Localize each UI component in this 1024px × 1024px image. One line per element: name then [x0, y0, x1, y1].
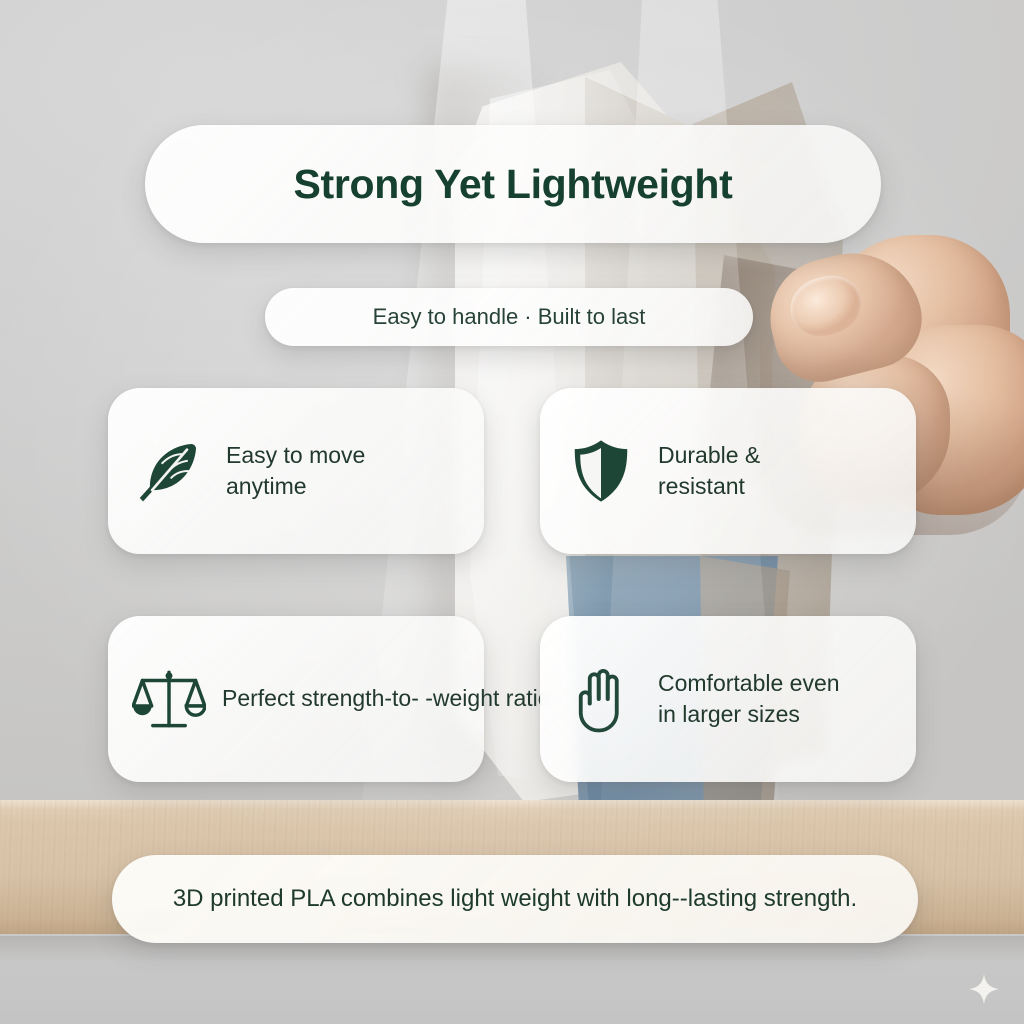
feature-label: Perfect strength-to- -weight ratio	[222, 683, 551, 714]
feature-card-easy-to-move[interactable]: Easy to move anytime	[108, 388, 484, 554]
sparkle-icon	[965, 972, 1003, 1010]
shield-icon	[562, 432, 640, 510]
feature-label: Easy to move anytime	[226, 440, 365, 502]
title-pill: Strong Yet Lightweight	[145, 125, 881, 243]
promo-graphic: Strong Yet Lightweight Easy to handle · …	[0, 0, 1024, 1024]
feature-card-comfortable[interactable]: Comfortable even in larger sizes	[540, 616, 916, 782]
feature-label: Comfortable even in larger sizes	[658, 668, 840, 730]
caption-text: 3D printed PLA combines light weight wit…	[173, 882, 857, 916]
feather-icon	[130, 432, 208, 510]
hand-icon	[562, 660, 640, 738]
feature-card-strength-to-weight[interactable]: Perfect strength-to- -weight ratio	[108, 616, 484, 782]
feature-label: Durable & resistant	[658, 440, 760, 502]
page-subtitle: Easy to handle · Built to last	[373, 304, 646, 330]
feature-card-durable[interactable]: Durable & resistant	[540, 388, 916, 554]
caption-banner: 3D printed PLA combines light weight wit…	[112, 855, 918, 943]
scales-icon	[130, 660, 208, 738]
page-title: Strong Yet Lightweight	[293, 161, 732, 208]
subtitle-pill: Easy to handle · Built to last	[265, 288, 753, 346]
